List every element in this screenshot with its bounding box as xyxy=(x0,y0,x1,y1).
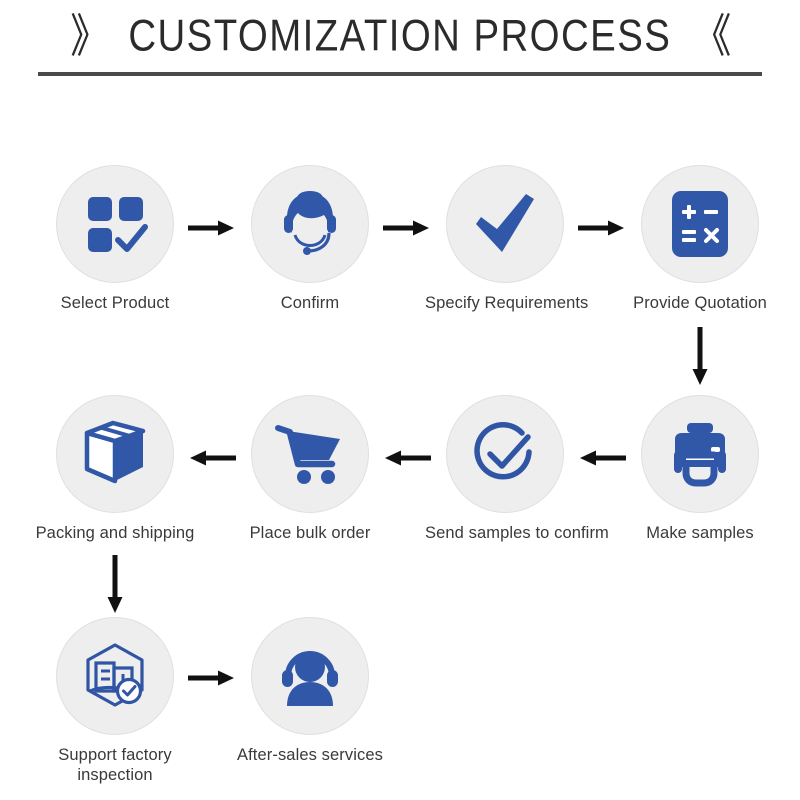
package-box-icon xyxy=(80,419,150,489)
process-flow-diagram: Select Product xyxy=(0,0,800,800)
step-label: After-sales services xyxy=(230,745,390,765)
factory-inspection-shield-icon xyxy=(80,641,150,711)
process-step-provide-quotation[interactable]: Provide Quotation xyxy=(620,165,780,313)
step-label: Specify Requirements xyxy=(425,293,585,313)
step-icon-circle xyxy=(446,395,564,513)
process-step-place-bulk-order[interactable]: Place bulk order xyxy=(230,395,390,543)
arrow-8-to-9 xyxy=(105,555,125,615)
arrow-3-to-4 xyxy=(578,218,626,238)
calculator-icon xyxy=(668,189,732,259)
step-label: Support factory inspection xyxy=(35,745,195,785)
process-step-packing-and-shipping[interactable]: Packing and shipping xyxy=(35,395,195,543)
arrow-5-to-6 xyxy=(578,448,626,468)
step-icon-circle xyxy=(56,617,174,735)
step-label: Send samples to confirm xyxy=(425,523,585,543)
printer-machine-icon xyxy=(665,421,735,487)
step-icon-circle xyxy=(251,617,369,735)
step-icon-circle xyxy=(446,165,564,283)
step-icon-circle xyxy=(641,165,759,283)
process-step-confirm[interactable]: Confirm xyxy=(230,165,390,313)
step-icon-circle xyxy=(251,395,369,513)
process-step-specify-requirements[interactable]: Specify Requirements xyxy=(425,165,585,313)
arrow-7-to-8 xyxy=(188,448,236,468)
product-grid-check-icon xyxy=(82,191,148,257)
step-label: Select Product xyxy=(35,293,195,313)
arrow-1-to-2 xyxy=(188,218,236,238)
arrow-9-to-10 xyxy=(188,668,236,688)
process-step-make-samples[interactable]: Make samples xyxy=(620,395,780,543)
step-label: Confirm xyxy=(230,293,390,313)
step-label: Packing and shipping xyxy=(35,523,195,543)
circle-check-icon xyxy=(470,419,540,489)
step-icon-circle xyxy=(56,165,174,283)
step-icon-circle xyxy=(641,395,759,513)
arrow-6-to-7 xyxy=(383,448,431,468)
process-step-send-samples-to-confirm[interactable]: Send samples to confirm xyxy=(425,395,585,543)
step-label: Make samples xyxy=(620,523,780,543)
step-icon-circle xyxy=(56,395,174,513)
step-label: Place bulk order xyxy=(230,523,390,543)
step-icon-circle xyxy=(251,165,369,283)
shopping-cart-icon xyxy=(274,422,346,486)
process-step-after-sales-services[interactable]: After-sales services xyxy=(230,617,390,765)
arrow-2-to-3 xyxy=(383,218,431,238)
headphones-person-icon xyxy=(275,644,345,708)
arrow-4-to-5 xyxy=(690,327,710,387)
step-label: Provide Quotation xyxy=(620,293,780,313)
support-agent-headset-icon xyxy=(275,189,345,259)
process-step-support-factory-inspection[interactable]: Support factory inspection xyxy=(35,617,195,785)
checkmark-icon xyxy=(469,188,541,260)
process-step-select-product[interactable]: Select Product xyxy=(35,165,195,313)
